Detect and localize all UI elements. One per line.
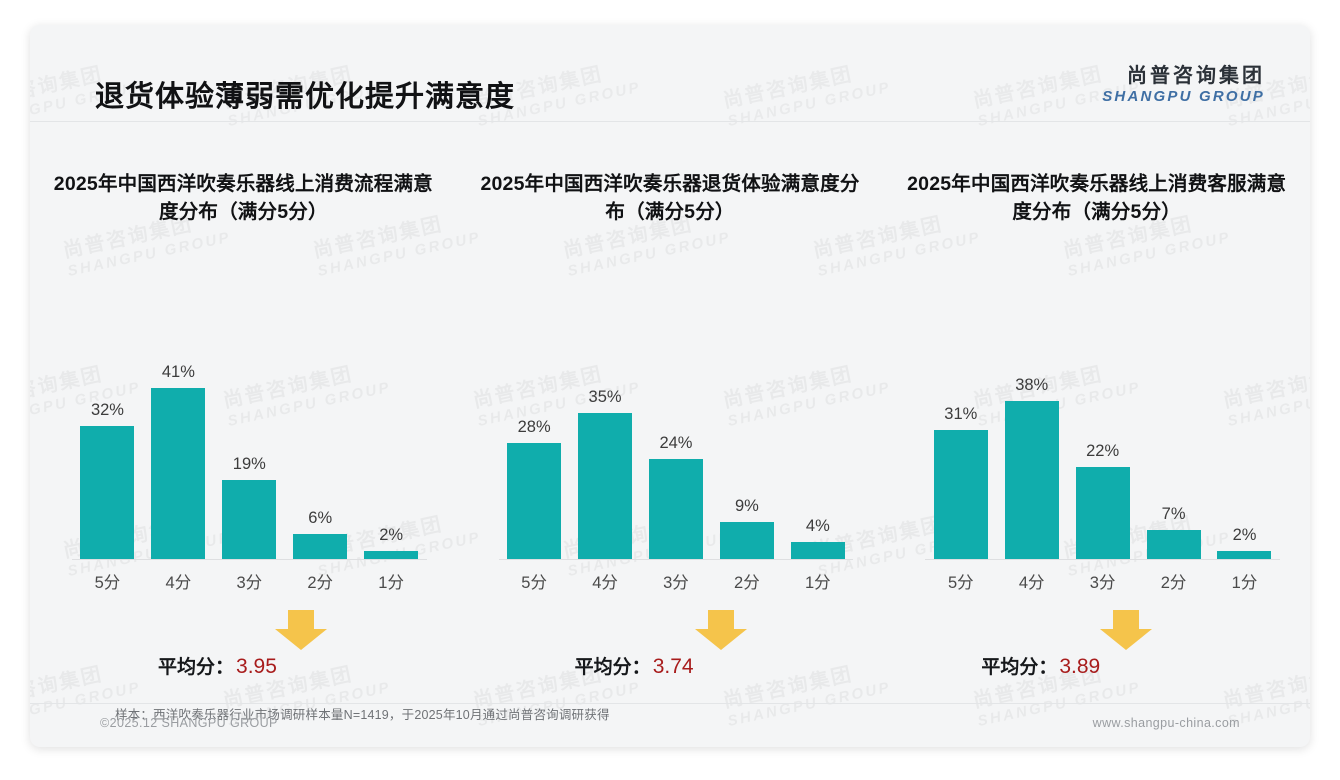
bar [80, 426, 134, 559]
x-axis-labels: 5分4分3分2分1分 [925, 566, 1280, 596]
chart-title: 2025年中国西洋吹奏乐器线上消费客服满意度分布（满分5分） [901, 171, 1292, 226]
bar [649, 459, 703, 559]
x-axis-label: 1分 [1213, 569, 1277, 593]
x-axis-labels: 5分4分3分2分1分 [499, 566, 854, 596]
x-axis-label: 4分 [146, 569, 210, 593]
chart-panel-return-experience: 2025年中国西洋吹奏乐器退货体验满意度分布（满分5分） 28%35%24%9%… [457, 122, 884, 667]
website-link[interactable]: www.shangpu-china.com [1093, 716, 1240, 730]
x-axis-label: 1分 [786, 569, 850, 593]
average-score-text: 平均分：3.74 [575, 652, 694, 679]
chart-title: 2025年中国西洋吹奏乐器线上消费流程满意度分布（满分5分） [48, 171, 439, 226]
x-axis-label: 2分 [1142, 569, 1206, 593]
average-label: 平均分： [158, 657, 234, 678]
average-score-text: 平均分：3.95 [158, 652, 277, 679]
bar [507, 443, 561, 559]
average-value: 3.74 [653, 655, 694, 678]
average-annotation: 平均分：3.95 [30, 610, 457, 670]
bar [791, 542, 845, 559]
x-axis-label: 2分 [715, 569, 779, 593]
page-title: 退货体验薄弱需优化提升满意度 [95, 73, 515, 115]
bars-container: 31%38%22%7%2% [925, 340, 1280, 560]
bar [720, 522, 774, 559]
slide-footer: ©2025.12 SHANGPU GROUP www.shangpu-china… [30, 703, 1310, 747]
bar [1076, 467, 1130, 559]
bar-value-label: 2% [1233, 526, 1257, 545]
bar-value-label: 2% [379, 526, 403, 545]
bar-value-label: 9% [735, 497, 759, 516]
bar-column: 24% [644, 340, 708, 559]
bar-column: 2% [359, 340, 423, 559]
down-arrow-icon [695, 610, 747, 650]
x-axis-label: 3分 [644, 569, 708, 593]
bar-value-label: 38% [1015, 376, 1048, 395]
x-axis-label: 5分 [502, 569, 566, 593]
x-axis-labels: 5分4分3分2分1分 [72, 566, 427, 596]
bar-column: 22% [1071, 340, 1135, 559]
bar-value-label: 35% [589, 388, 622, 407]
x-axis-label: 4分 [1000, 569, 1064, 593]
bar [578, 413, 632, 559]
bar-value-label: 22% [1086, 442, 1119, 461]
bar [293, 534, 347, 559]
bar [1217, 551, 1271, 559]
x-axis-label: 3分 [217, 569, 281, 593]
bar-value-label: 19% [233, 455, 266, 474]
bar-value-label: 7% [1162, 505, 1186, 524]
bar [1005, 401, 1059, 559]
bar [151, 388, 205, 559]
bar-value-label: 32% [91, 401, 124, 420]
bars-container: 32%41%19%6%2% [72, 340, 427, 560]
chart-panel-customer-service: 2025年中国西洋吹奏乐器线上消费客服满意度分布（满分5分） 31%38%22%… [883, 122, 1310, 667]
copyright-text: ©2025.12 SHANGPU GROUP [100, 716, 278, 730]
down-arrow-icon [275, 610, 327, 650]
slide-card: 尚普咨询集团SHANGPU GROUP尚普咨询集团SHANGPU GROUP尚普… [30, 25, 1310, 747]
charts-row: 2025年中国西洋吹奏乐器线上消费流程满意度分布（满分5分） 32%41%19%… [30, 122, 1310, 667]
bar-column: 32% [76, 340, 140, 559]
bar-value-label: 31% [944, 405, 977, 424]
bar-plot: 31%38%22%7%2% 5分4分3分2分1分 [925, 297, 1280, 602]
bar-value-label: 6% [308, 509, 332, 528]
x-axis-label: 5分 [929, 569, 993, 593]
bar-value-label: 41% [162, 363, 195, 382]
bar-column: 9% [715, 340, 779, 559]
down-arrow-icon [1100, 610, 1152, 650]
bar [222, 480, 276, 559]
bar-value-label: 28% [518, 418, 551, 437]
logo-chinese-text: 尚普咨询集团 [1102, 65, 1265, 88]
bar-value-label: 4% [806, 517, 830, 536]
average-annotation: 平均分：3.89 [883, 610, 1310, 670]
bar-column: 2% [1213, 340, 1277, 559]
bar [364, 551, 418, 559]
average-label: 平均分： [981, 657, 1057, 678]
average-value: 3.89 [1059, 655, 1100, 678]
average-value: 3.95 [236, 655, 277, 678]
average-score-text: 平均分：3.89 [981, 652, 1100, 679]
bar-column: 6% [288, 340, 352, 559]
bar-column: 19% [217, 340, 281, 559]
x-axis-label: 1分 [359, 569, 423, 593]
bar-column: 41% [146, 340, 210, 559]
x-axis-label: 4分 [573, 569, 637, 593]
x-axis-label: 5分 [76, 569, 140, 593]
brand-logo: 尚普咨询集团 SHANGPU GROUP [1102, 65, 1265, 105]
bar-value-label: 24% [659, 434, 692, 453]
bar-column: 28% [502, 340, 566, 559]
bar-plot: 28%35%24%9%4% 5分4分3分2分1分 [499, 297, 854, 602]
bar-column: 38% [1000, 340, 1064, 559]
slide-header: 退货体验薄弱需优化提升满意度 尚普咨询集团 SHANGPU GROUP [30, 25, 1310, 122]
bar-column: 7% [1142, 340, 1206, 559]
average-annotation: 平均分：3.74 [457, 610, 884, 670]
x-axis-label: 3分 [1071, 569, 1135, 593]
bar-column: 31% [929, 340, 993, 559]
bars-container: 28%35%24%9%4% [499, 340, 854, 560]
bar [1147, 530, 1201, 559]
logo-english-text: SHANGPU GROUP [1102, 88, 1265, 105]
bar [934, 430, 988, 559]
average-label: 平均分： [575, 657, 651, 678]
bar-column: 4% [786, 340, 850, 559]
chart-panel-consumption-process: 2025年中国西洋吹奏乐器线上消费流程满意度分布（满分5分） 32%41%19%… [30, 122, 457, 667]
bar-column: 35% [573, 340, 637, 559]
x-axis-label: 2分 [288, 569, 352, 593]
chart-title: 2025年中国西洋吹奏乐器退货体验满意度分布（满分5分） [475, 171, 866, 226]
bar-plot: 32%41%19%6%2% 5分4分3分2分1分 [72, 297, 427, 602]
